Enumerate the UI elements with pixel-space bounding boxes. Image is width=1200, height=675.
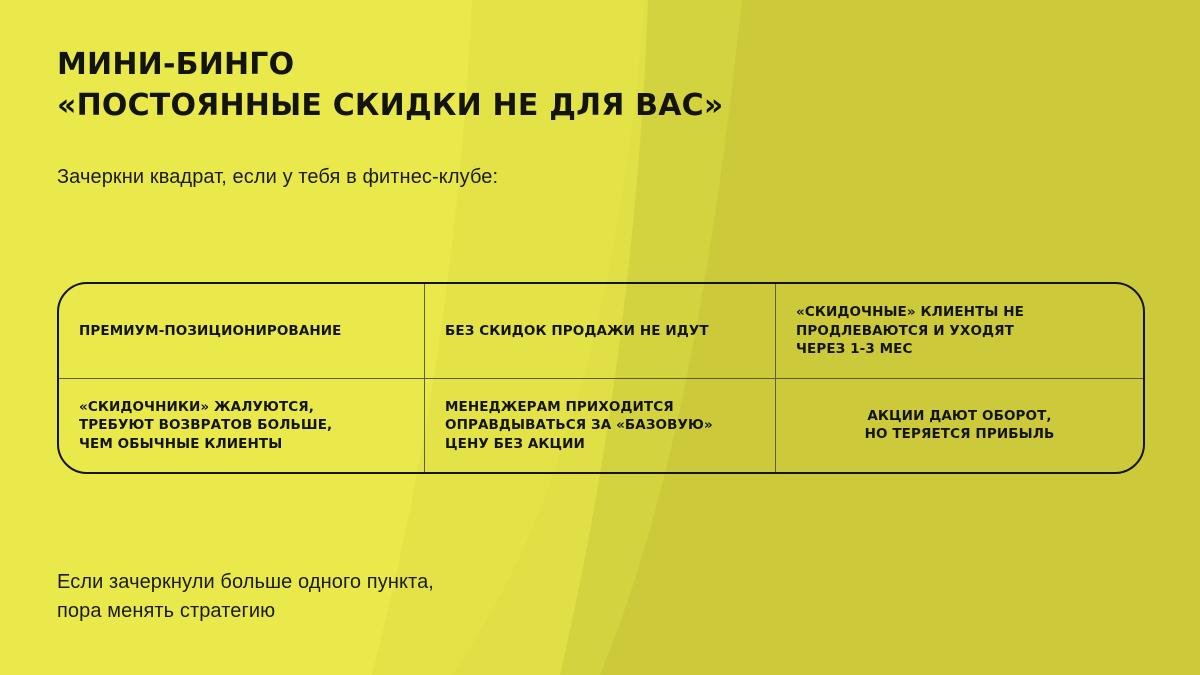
slide: МИНИ-БИНГО «ПОСТОЯННЫЕ СКИДКИ НЕ ДЛЯ ВАС…	[0, 0, 1200, 675]
bingo-cell-1-1[interactable]: ПРЕМИУМ-ПОЗИЦИОНИРОВАНИЕ	[59, 284, 424, 378]
bingo-table: ПРЕМИУМ-ПОЗИЦИОНИРОВАНИЕ БЕЗ СКИДОК ПРОД…	[57, 282, 1145, 474]
page-title: МИНИ-БИНГО «ПОСТОЯННЫЕ СКИДКИ НЕ ДЛЯ ВАС…	[57, 44, 1057, 126]
bingo-row-2: «СКИДОЧНИКИ» ЖАЛУЮТСЯ, ТРЕБУЮТ ВОЗВРАТОВ…	[59, 379, 1143, 473]
bingo-cell-2-3[interactable]: АКЦИИ ДАЮТ ОБОРОТ, НО ТЕРЯЕТСЯ ПРИБЫЛЬ	[775, 379, 1143, 473]
bingo-cell-1-2[interactable]: БЕЗ СКИДОК ПРОДАЖИ НЕ ИДУТ	[424, 284, 775, 378]
slide-footnote: Если зачеркнули больше одного пункта, по…	[57, 568, 434, 626]
bingo-cell-2-2[interactable]: МЕНЕДЖЕРАМ ПРИХОДИТСЯ ОПРАВДЫВАТЬСЯ ЗА «…	[424, 379, 775, 473]
bingo-cell-1-3[interactable]: «СКИДОЧНЫЕ» КЛИЕНТЫ НЕ ПРОДЛЕВАЮТСЯ И УХ…	[775, 284, 1143, 378]
bingo-row-1: ПРЕМИУМ-ПОЗИЦИОНИРОВАНИЕ БЕЗ СКИДОК ПРОД…	[59, 284, 1143, 379]
slide-subtitle: Зачеркни квадрат, если у тебя в фитнес-к…	[57, 163, 498, 191]
slide-content: МИНИ-БИНГО «ПОСТОЯННЫЕ СКИДКИ НЕ ДЛЯ ВАС…	[0, 0, 1200, 675]
bingo-cell-2-1[interactable]: «СКИДОЧНИКИ» ЖАЛУЮТСЯ, ТРЕБУЮТ ВОЗВРАТОВ…	[59, 379, 424, 473]
